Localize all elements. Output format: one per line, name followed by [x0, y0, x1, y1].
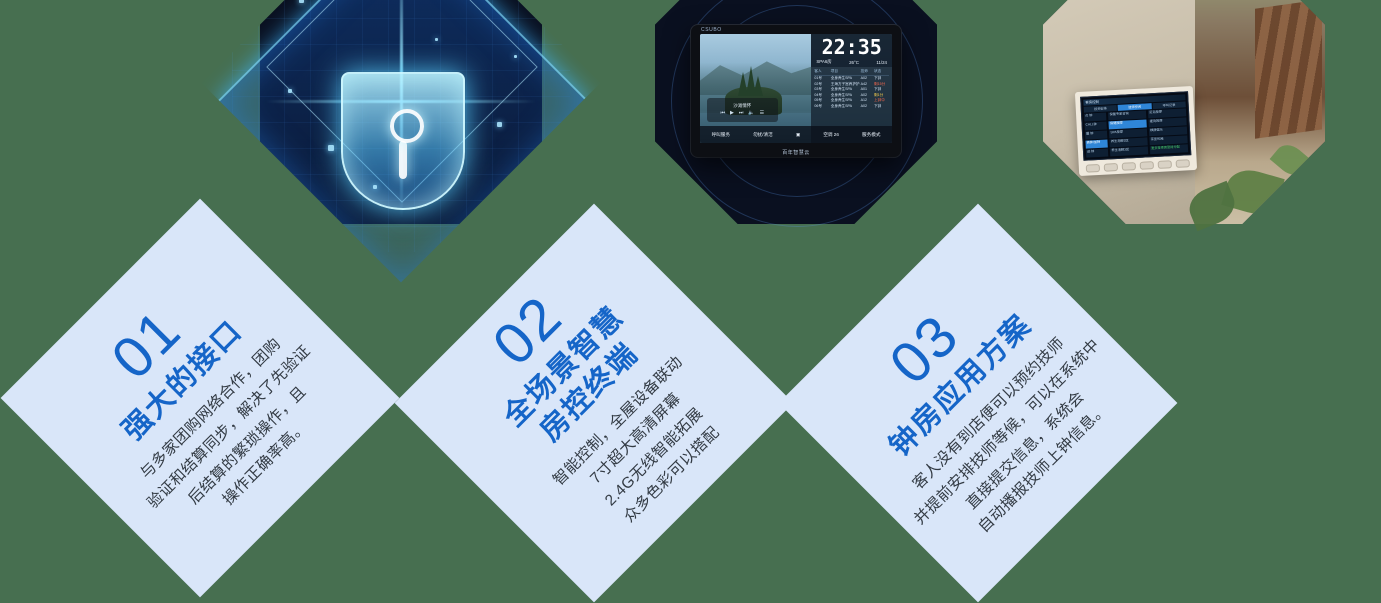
card-2-image-diamond: CSUBO 沙滩情怀 ⏮ ▶ — [597, 0, 996, 282]
media-controls[interactable]: ⏮ ▶ ⏭ 🔈 ☰ — [721, 110, 765, 116]
card-3-inner: 03 钟房应用方案 客人没有到店便可以预约技师 并提前安排技师等候，可以在系统中… — [837, 262, 1119, 544]
panel-screen: 客房控制 技师安排 技师空闲 呼叫记录 点 钟 CALL钟 圈 钟 换钟/加钟 … — [1080, 91, 1191, 161]
cell-item: 全身养生SPA — [831, 104, 861, 110]
panel-mid-cell-4[interactable]: 养生泡脚3区 — [1110, 146, 1148, 156]
btn-aircon[interactable]: 空调 26 — [823, 132, 839, 138]
panel-right-cell-3[interactable]: 茶室包厢 — [1149, 135, 1187, 145]
card-1-text-diamond: 01 强大的接口 与多家团购网络合作，团购 验证和结算同步，解决了先验证 后结算… — [1, 199, 400, 598]
wooden-slats — [1255, 0, 1322, 138]
clock-time: 22:35 — [815, 37, 888, 57]
col-guest: 客人 — [814, 69, 830, 75]
panel-button-5[interactable] — [1157, 160, 1171, 169]
panel-left-cell-3[interactable]: 换钟/加钟 — [1085, 139, 1108, 148]
panel-mid-cell-3[interactable]: 养生泡脚2区 — [1110, 137, 1148, 147]
wall-control-panel[interactable]: 客房控制 技师安排 技师空闲 呼叫记录 点 钟 CALL钟 圈 钟 换钟/加钟 … — [1075, 86, 1197, 176]
panel-mid-cell-2[interactable]: SPA按摩 — [1109, 128, 1147, 138]
panel-left-cell-2[interactable]: 圈 钟 — [1085, 130, 1108, 139]
panel-tab-0[interactable]: 技师安排 — [1083, 105, 1117, 113]
clock-widget: 22:35 SPA6房 26°C 11/24 — [811, 34, 892, 67]
panel-right-cell-0[interactable]: 足浴按摩 — [1148, 108, 1186, 118]
panel-button-3[interactable] — [1121, 162, 1135, 171]
panel-right-cell-2[interactable]: 棋牌娱乐 — [1149, 126, 1187, 136]
smart-room-tablet-image: CSUBO 沙滩情怀 ⏮ ▶ — [655, 0, 937, 224]
panel-left-cell-4[interactable]: 选 钟 — [1086, 148, 1109, 157]
date-label: 11/24 — [876, 60, 887, 65]
panel-mid-cell-1[interactable]: 保健按摩 — [1109, 119, 1147, 129]
col-tech: 技师 — [861, 69, 874, 75]
media-play-icon[interactable]: ▶ — [730, 110, 734, 116]
tablet-screen: 沙滩情怀 ⏮ ▶ ⏭ 🔈 ☰ 22:35 — [700, 34, 892, 143]
table-row: 06号 全身养生SPA A02 下钟 — [814, 104, 889, 110]
panel-left-column[interactable]: 点 钟 CALL钟 圈 钟 换钟/加钟 选 钟 — [1084, 112, 1109, 157]
tablet-brand-label: CSUBO — [701, 27, 722, 33]
cell-status: 下钟 — [874, 104, 889, 110]
room-wall-panel-photo: 客房控制 技师安排 技师空闲 呼叫记录 点 钟 CALL钟 圈 钟 换钟/加钟 … — [1043, 0, 1325, 224]
media-list-icon[interactable]: ☰ — [760, 110, 764, 116]
media-player-widget[interactable]: 沙滩情怀 ⏮ ▶ ⏭ 🔈 ☰ — [707, 98, 778, 122]
btn-dnd-clean[interactable]: 勿扰/清洁 — [753, 132, 773, 138]
room-control-tablet: CSUBO 沙滩情怀 ⏮ ▶ — [691, 25, 901, 157]
panel-body: 点 钟 CALL钟 圈 钟 换钟/加钟 选 钟 保健专家咨询 保健按摩 SPA按… — [1084, 108, 1188, 157]
clock-subline: SPA6房 26°C 11/24 — [815, 59, 888, 65]
panel-tab-1[interactable]: 技师空闲 — [1118, 103, 1152, 111]
card-1-image-diamond — [202, 0, 601, 282]
tree-3 — [753, 76, 763, 96]
panel-button-1[interactable] — [1086, 164, 1100, 173]
panel-tab-2[interactable]: 呼叫记录 — [1152, 101, 1186, 109]
promo-banner: CSUBO 沙滩情怀 ⏮ ▶ — [0, 0, 1381, 603]
panel-left-cell-0[interactable]: 点 钟 — [1084, 112, 1107, 121]
panel-button-4[interactable] — [1139, 161, 1153, 170]
panel-right-cell-1[interactable]: 搓背按摩 — [1148, 117, 1186, 127]
panel-right-column[interactable]: 足浴按摩 搓背按摩 棋牌娱乐 茶室包厢 更多技师房型待分配 — [1148, 108, 1188, 154]
col-item: 项目 — [831, 69, 861, 75]
panel-button-6[interactable] — [1175, 159, 1189, 168]
card-2-content: 02 全场景智慧 房控终端 智能控制，全屋设备联动 7寸超大高清屏幕 2.4G无… — [395, 204, 794, 603]
media-volume-icon[interactable]: 🔈 — [748, 110, 754, 116]
card-3-text-diamond: 03 钟房应用方案 客人没有到店便可以预约技师 并提前安排技师等候，可以在系统中… — [779, 204, 1178, 603]
card-1-inner: 01 强大的接口 与多家团购网络合作，团购 验证和结算同步，解决了先验证 后结算… — [59, 257, 341, 539]
panel-left-cell-1[interactable]: CALL钟 — [1084, 121, 1107, 130]
panel-mid-column[interactable]: 保健专家咨询 保健按摩 SPA按摩 养生泡脚2区 养生泡脚3区 — [1108, 110, 1148, 156]
card-1-content: 01 强大的接口 与多家团购网络合作，团购 验证和结算同步，解决了先验证 后结算… — [1, 199, 400, 598]
tablet-bottom-bar[interactable]: 呼叫服务 勿扰/清洁 ▣ 空调 26 服务模式 — [700, 126, 892, 143]
btn-call-service[interactable]: 呼叫服务 — [712, 132, 730, 138]
panel-right-cell-4[interactable]: 更多技师房型待分配 — [1150, 144, 1188, 154]
col-status: 状态 — [874, 69, 889, 75]
room-label: SPA6房 — [816, 59, 831, 65]
glowing-shield-circuit-board-image — [260, 0, 542, 224]
cell-tech: A02 — [861, 104, 874, 110]
apps-grid-icon[interactable]: ▣ — [796, 132, 800, 138]
temperature-label: 26°C — [849, 60, 859, 65]
media-prev-icon[interactable]: ⏮ — [721, 110, 726, 116]
shield-icon — [341, 72, 465, 210]
card-3-image-diamond: 客房控制 技师安排 技师空闲 呼叫记录 点 钟 CALL钟 圈 钟 换钟/加钟 … — [985, 0, 1381, 282]
card-2-inner: 02 全场景智慧 房控终端 智能控制，全屋设备联动 7寸超大高清屏幕 2.4G无… — [453, 262, 735, 544]
cell-guest: 06号 — [814, 104, 830, 110]
panel-button-2[interactable] — [1103, 163, 1117, 172]
tablet-logo: 百年智慧云 — [691, 149, 901, 156]
media-next-icon[interactable]: ⏭ — [739, 110, 744, 116]
card-3-content: 03 钟房应用方案 客人没有到店便可以预约技师 并提前安排技师等候，可以在系统中… — [779, 204, 1178, 603]
keyhole-icon — [399, 141, 407, 179]
panel-hardware-buttons[interactable] — [1084, 159, 1192, 173]
card-2-text-diamond: 02 全场景智慧 房控终端 智能控制，全屋设备联动 7寸超大高清屏幕 2.4G无… — [395, 204, 794, 603]
panel-mid-cell-0[interactable]: 保健专家咨询 — [1108, 110, 1146, 120]
btn-service-mode[interactable]: 服务模式 — [862, 132, 880, 138]
media-title: 沙滩情怀 — [733, 103, 751, 109]
